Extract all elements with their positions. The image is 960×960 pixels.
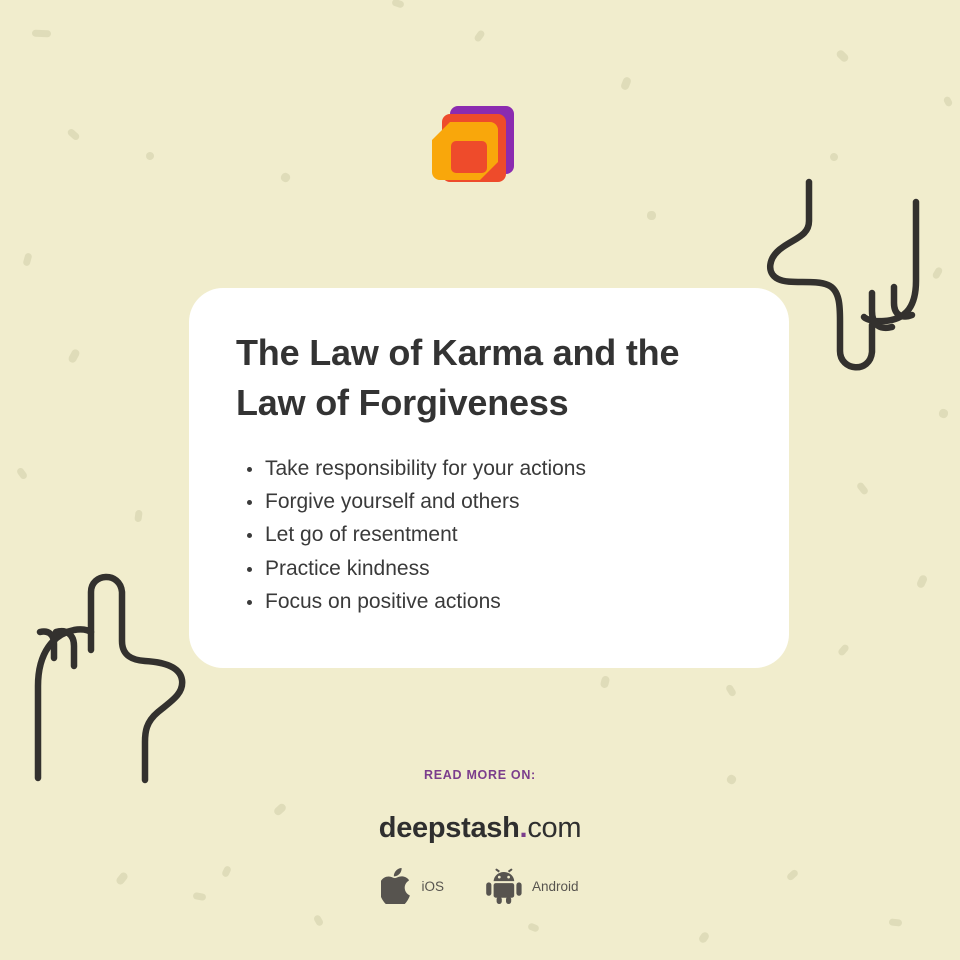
confetti-dash (725, 684, 737, 698)
ios-label: iOS (421, 879, 444, 894)
confetti-dash (837, 643, 850, 657)
android-label: Android (532, 879, 579, 894)
footer: READ MORE ON: deepstash.com iOS (0, 768, 960, 904)
android-icon (485, 868, 523, 904)
list-item: Practice kindness (236, 552, 743, 585)
confetti-dash (889, 918, 903, 926)
confetti-dash (279, 171, 291, 183)
confetti-dash (698, 931, 711, 945)
read-more-label: READ MORE ON: (0, 768, 960, 782)
android-store-badge[interactable]: Android (485, 868, 579, 904)
list-item: Let go of resentment (236, 518, 743, 551)
confetti-dash (600, 675, 611, 689)
ios-store-badge[interactable]: iOS (381, 868, 444, 904)
confetti-dash (527, 922, 540, 932)
confetti-dash (32, 30, 51, 38)
list-item: Take responsibility for your actions (236, 452, 743, 485)
idea-card: The Law of Karma and the Law of Forgiven… (189, 288, 789, 668)
confetti-dash (943, 95, 954, 107)
confetti-dash (647, 211, 657, 221)
confetti-dash (916, 574, 929, 589)
confetti-dash (313, 914, 325, 927)
confetti-dash (22, 252, 32, 266)
wordmark-tld: com (527, 812, 581, 844)
confetti-dash (835, 49, 850, 64)
confetti-dash (67, 348, 81, 364)
idea-list: Take responsibility for your actions For… (236, 452, 743, 618)
deepstash-wordmark[interactable]: deepstash.com (0, 812, 960, 845)
list-item: Forgive yourself and others (236, 485, 743, 518)
page-title: The Law of Karma and the Law of Forgiven… (236, 328, 743, 428)
confetti-dash (856, 481, 870, 496)
deepstash-logo (430, 104, 516, 198)
confetti-dash (16, 467, 29, 481)
confetti-dash (829, 152, 838, 161)
list-item: Focus on positive actions (236, 585, 743, 618)
confetti-dash (145, 151, 155, 161)
confetti-dash (938, 408, 949, 419)
confetti-dash (391, 0, 405, 9)
confetti-dash (473, 29, 486, 43)
confetti-dash (620, 76, 632, 91)
pointing-up-hand-illustration (28, 562, 206, 784)
apple-icon (381, 868, 412, 904)
confetti-dash (66, 128, 80, 142)
wordmark-name: deepstash (379, 812, 520, 844)
store-badges: iOS (0, 868, 960, 904)
confetti-dash (134, 510, 143, 523)
